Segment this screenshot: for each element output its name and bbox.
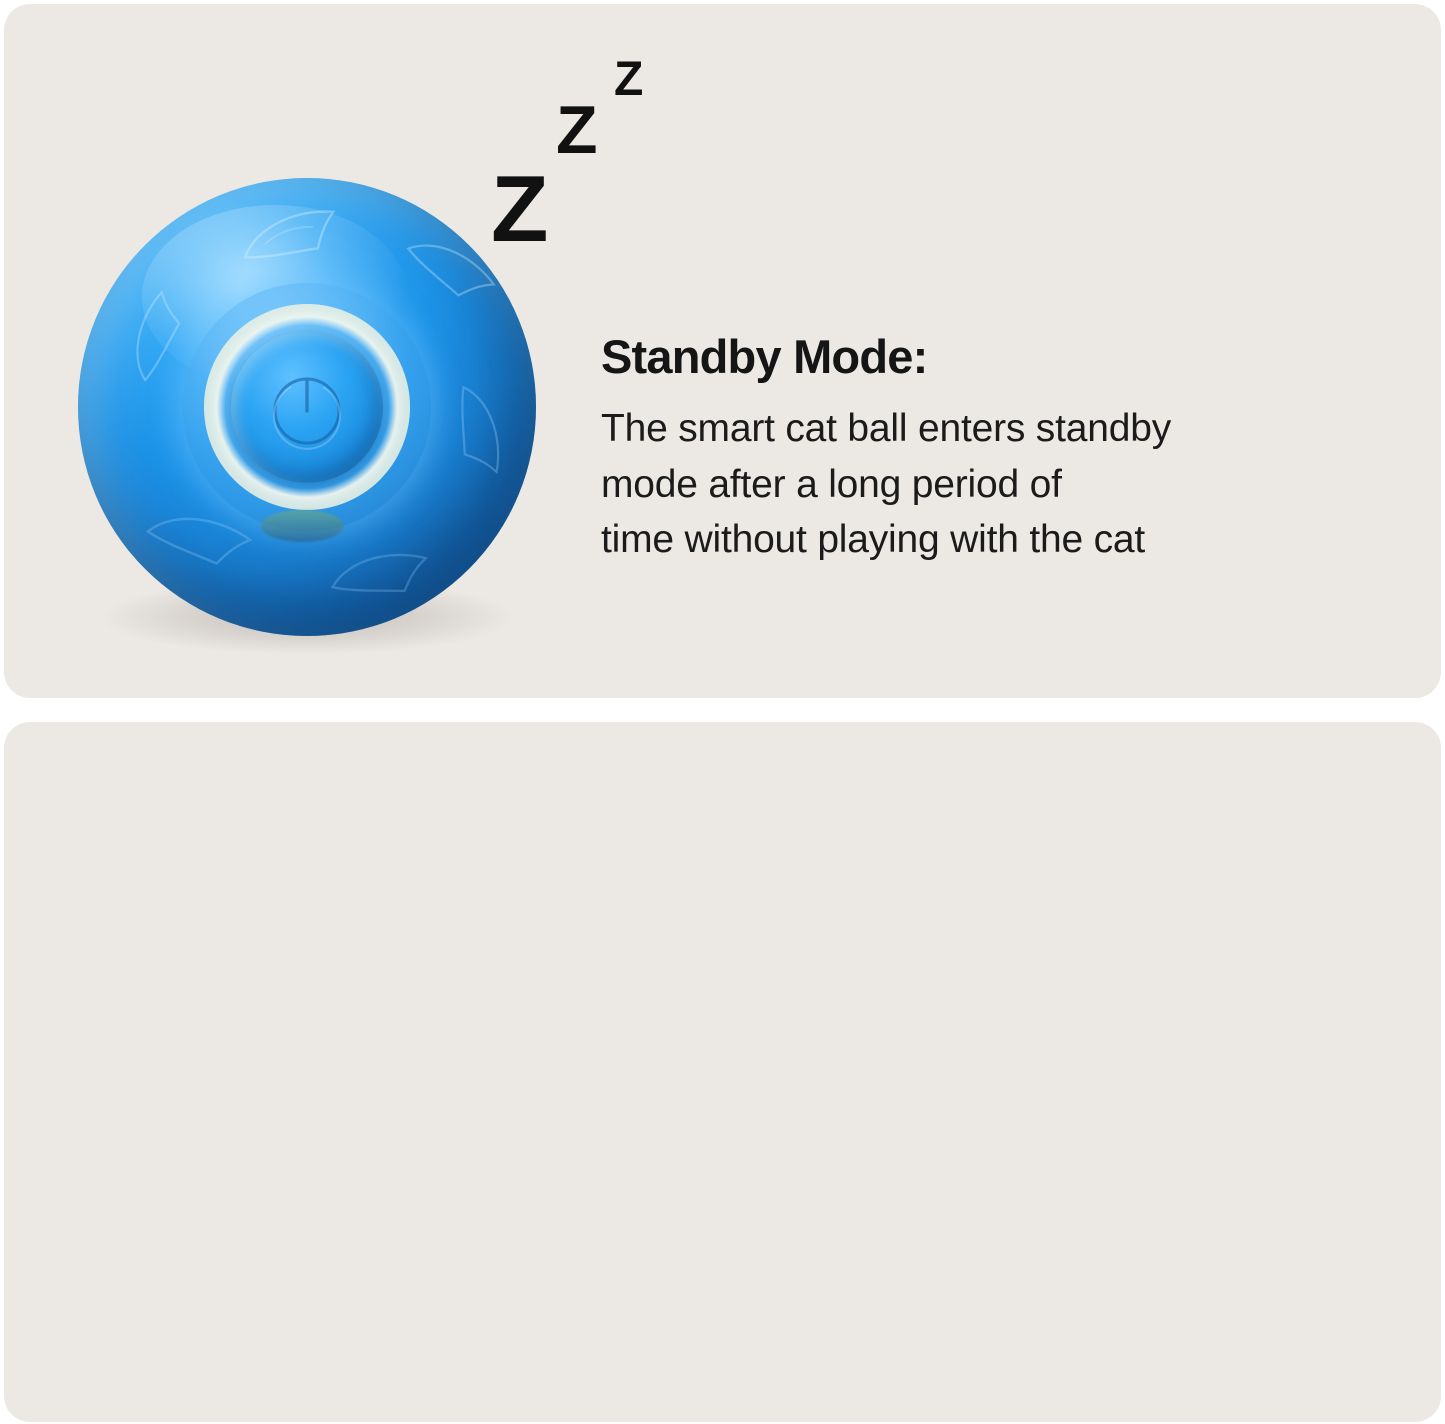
standby-body-line-1: The smart cat ball enters standby (601, 401, 1171, 456)
sleep-z-small: Z (614, 56, 643, 104)
product-ball-standby (68, 172, 546, 662)
standby-body-line-3: time without playing with the cat (601, 512, 1171, 567)
panel-standby-mode: Z Z Z (4, 4, 1441, 698)
ball-lens-glint (261, 510, 343, 542)
ball-shell (78, 178, 536, 636)
emboss-motif-bottom (322, 536, 447, 608)
product-feature-image: Z Z Z (0, 0, 1445, 1424)
power-button[interactable] (231, 331, 382, 482)
standby-headline: Standby Mode: (601, 332, 1171, 381)
panel-motion-activated: Motion-Activated: Tapping or touching it… (4, 722, 1441, 1422)
standby-body: The smart cat ball enters standby mode a… (601, 401, 1171, 567)
emboss-motif-right (443, 375, 519, 494)
emboss-motif-top-right (393, 217, 517, 322)
sleep-z-medium: Z (556, 96, 598, 164)
standby-copy-block: Standby Mode: The smart cat ball enters … (601, 332, 1171, 567)
power-icon (261, 361, 353, 453)
standby-body-line-2: mode after a long period of (601, 457, 1171, 512)
